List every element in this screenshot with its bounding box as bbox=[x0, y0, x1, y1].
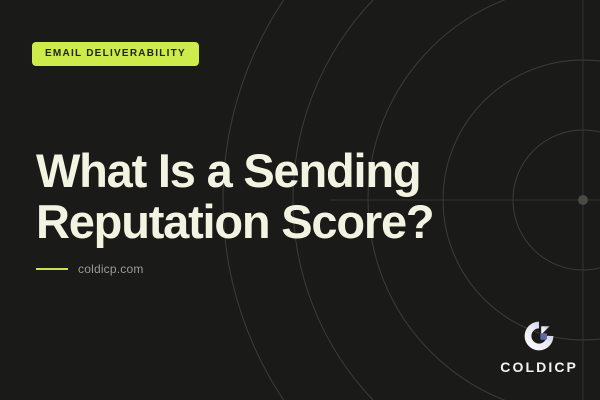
page-title: What Is a Sending Reputation Score? bbox=[36, 146, 556, 248]
category-badge: EMAIL DELIVERABILITY bbox=[32, 42, 199, 66]
brand-lockup: COLDICP bbox=[500, 319, 578, 374]
brand-wordmark: COLDICP bbox=[500, 360, 578, 374]
poster-canvas: EMAIL DELIVERABILITY What Is a Sending R… bbox=[0, 0, 600, 400]
source-url-label: coldicp.com bbox=[78, 263, 144, 275]
accent-dash-icon bbox=[36, 268, 68, 270]
source-url-row: coldicp.com bbox=[36, 263, 144, 275]
coldicp-ring-arrow-icon bbox=[522, 319, 556, 353]
headline-line-2: Reputation Score? bbox=[36, 197, 556, 248]
crosshair-center-dot bbox=[578, 195, 588, 205]
category-badge-label: EMAIL DELIVERABILITY bbox=[45, 49, 186, 59]
mark-ring-shape bbox=[525, 322, 554, 351]
headline-line-1: What Is a Sending bbox=[36, 146, 556, 197]
mark-notch-shape bbox=[541, 333, 548, 340]
